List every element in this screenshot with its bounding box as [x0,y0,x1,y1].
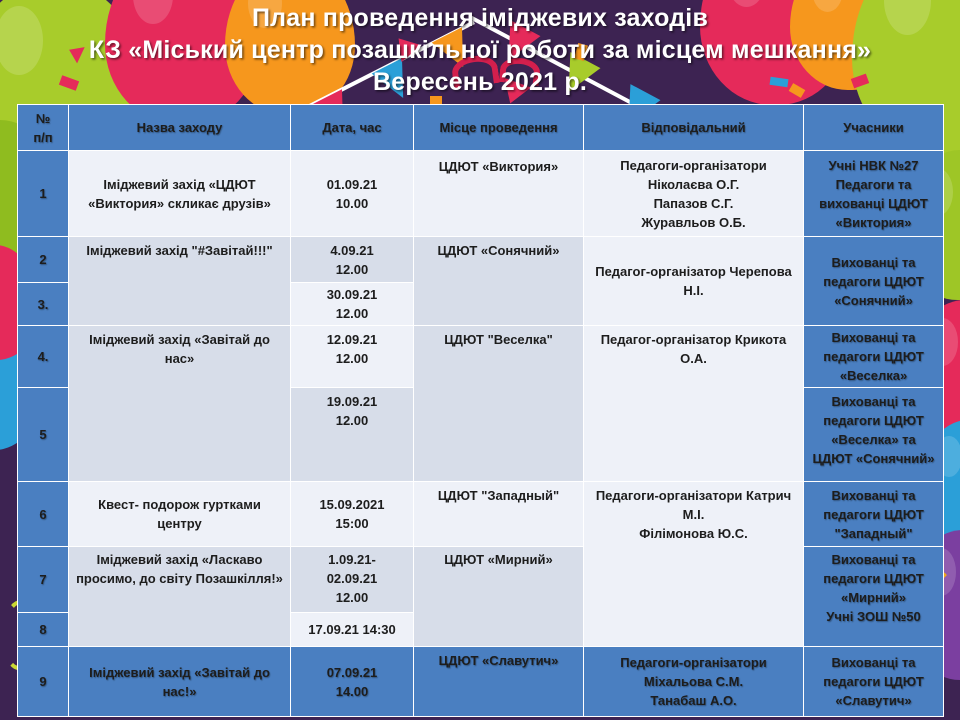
row-name: Іміджевий захід "#Завітай!!!" [69,237,291,326]
row-date-line1: 01.09.21 [295,175,409,194]
row-participants-line4: «Виктория» [808,213,939,232]
row-participants-line2: Педагоги та [808,175,939,194]
row-name-line1: Квест- подорож гуртками [73,495,286,514]
row-number: 6 [18,482,69,547]
row-date: 12.09.21 12.00 [291,326,414,388]
row-participants: Вихованці та педагоги ЦДЮТ "Западный" [804,482,944,547]
row-name-line1: Іміджевий захід «Ласкаво [73,550,286,569]
row-participants-line2: педагоги ЦДЮТ [808,347,939,366]
title-line-3: Вересень 2021 р. [0,66,960,98]
row-name-line2: «Виктория» скликає друзів» [73,194,286,213]
row-date: 4.09.21 12.00 [291,237,414,283]
row-place: ЦДЮТ «Мирний» [414,547,584,647]
row-participants: Вихованці та педагоги ЦДЮТ «Веселка» та … [804,388,944,482]
row-number: 2 [18,237,69,283]
row-responsible-line4: Журавльов О.Б. [588,213,799,232]
table-body: 1 Іміджевий захід «ЦДЮТ «Виктория» склик… [18,151,944,717]
row-date-line2: 12.00 [295,304,409,323]
row-responsible-line2: Ніколаєва О.Г. [588,175,799,194]
row-date-line2: 12.00 [295,260,409,279]
row-date: 1.09.21- 02.09.21 12.00 [291,547,414,613]
slide-title: План проведення іміджевих заходів КЗ «Мі… [0,2,960,98]
row-responsible-line1: Педагог-організатор Черепова [588,262,799,281]
row-participants-line2: педагоги ЦДЮТ [808,272,939,291]
title-line-1: План проведення іміджевих заходів [0,2,960,34]
col-header-name: Назва заходу [69,105,291,151]
row-participants: Вихованці та педагоги ЦДЮТ «Мирний» Учні… [804,547,944,647]
table-header-row: № п/п Назва заходу Дата, час Місце прове… [18,105,944,151]
row-name-line2: центру [73,514,286,533]
row-responsible-line2: Міхальова С.М. [588,672,799,691]
row-responsible-line2: Н.І. [588,281,799,300]
row-participants: Вихованці та педагоги ЦДЮТ «Сонячний» [804,237,944,326]
table-header: № п/п Назва заходу Дата, час Місце прове… [18,105,944,151]
row-date-line1: 4.09.21 [295,241,409,260]
row-participants: Вихованці та педагоги ЦДЮТ «Веселка» [804,326,944,388]
row-date-line1: 19.09.21 [295,392,409,411]
row-participants-line2: педагоги ЦДЮТ [808,569,939,588]
col-header-number: № п/п [18,105,69,151]
row-name: Іміджевий захід «ЦДЮТ «Виктория» скликає… [69,151,291,237]
row-place: ЦДЮТ «Сонячний» [414,237,584,326]
title-line-2: КЗ «Міський центр позашкільної роботи за… [0,34,960,66]
row-date-line2: 10.00 [295,194,409,213]
row-number: 7 [18,547,69,613]
row-name: Іміджевий захід «Завітай до нас!» [69,647,291,717]
row-participants: Вихованці та педагоги ЦДЮТ «Славутич» [804,647,944,717]
row-responsible-line1: Педагог-організатор Крикота [588,330,799,349]
row-number: 9 [18,647,69,717]
row-participants-line1: Вихованці та [808,486,939,505]
row-date: 15.09.2021 15:00 [291,482,414,547]
row-participants-line3: «Сонячний» [808,291,939,310]
table-row: 7 Іміджевий захід «Ласкаво просимо, до с… [18,547,944,613]
row-name-line2: просимо, до світу Позашкілля!» [73,569,286,588]
row-name: Квест- подорож гуртками центру [69,482,291,547]
row-date-line2: 12.00 [295,411,409,430]
row-participants-line2: педагоги ЦДЮТ [808,505,939,524]
row-responsible-line1: Педагоги-організатори [588,653,799,672]
row-number: 8 [18,613,69,647]
row-participants-line1: Вихованці та [808,253,939,272]
slide-root: План проведення іміджевих заходів КЗ «Мі… [0,0,960,720]
col-header-place: Місце проведення [414,105,584,151]
row-date-line2: 02.09.21 [295,569,409,588]
col-header-number-line1: № [22,109,64,128]
row-date-line2: 12.00 [295,349,409,368]
row-date: 19.09.21 12.00 [291,388,414,482]
row-participants-line3: «Славутич» [808,691,939,710]
row-participants-line3: "Западный" [808,524,939,543]
col-header-responsible: Відповідальний [584,105,804,151]
row-participants-line1: Вихованці та [808,328,939,347]
row-participants-line3: «Мирний» [808,588,939,607]
row-date-line2: 14.00 [295,682,409,701]
row-name: Іміджевий захід «Завітай до нас» [69,326,291,482]
row-name: Іміджевий захід «Ласкаво просимо, до сві… [69,547,291,647]
row-number: 5 [18,388,69,482]
table-row: 2 Іміджевий захід "#Завітай!!!" 4.09.21 … [18,237,944,283]
row-responsible: Педагоги-організатори Ніколаєва О.Г. Пап… [584,151,804,237]
row-participants-line3: «Веселка» та [808,430,939,449]
row-name-line2: нас» [73,349,286,368]
row-date: 07.09.21 14.00 [291,647,414,717]
row-participants-line1: Вихованці та [808,392,939,411]
row-place: ЦДЮТ "Веселка" [414,326,584,482]
row-responsible: Педагог-організатор Крикота О.А. [584,326,804,482]
row-date-line1: 07.09.21 [295,663,409,682]
row-responsible-line1: Педагоги-організатори Катрич [588,486,799,505]
row-date: 30.09.21 12.00 [291,283,414,326]
row-participants-line4: ЦДЮТ «Сонячний» [808,449,939,468]
row-place: ЦДЮТ «Виктория» [414,151,584,237]
row-number: 3. [18,283,69,326]
row-responsible-line2: М.І. [588,505,799,524]
row-responsible-line3: Танабаш А.О. [588,691,799,710]
row-date-line1: 15.09.2021 [295,495,409,514]
table-row: 4. Іміджевий захід «Завітай до нас» 12.0… [18,326,944,388]
row-participants-line4: Учні ЗОШ №50 [808,607,939,626]
row-date-line1: 30.09.21 [295,285,409,304]
row-date: 17.09.21 14:30 [291,613,414,647]
col-header-number-line2: п/п [22,128,64,147]
table-row: 1 Іміджевий захід «ЦДЮТ «Виктория» склик… [18,151,944,237]
row-name-line1: Іміджевий захід «Завітай до [73,330,286,349]
row-responsible-line3: Папазов С.Г. [588,194,799,213]
row-participants-line1: Вихованці та [808,550,939,569]
row-number: 4. [18,326,69,388]
row-place: ЦДЮТ "Западный" [414,482,584,547]
row-date-line1: 1.09.21- [295,550,409,569]
row-number: 1 [18,151,69,237]
row-participants: Учні НВК №27 Педагоги та вихованці ЦДЮТ … [804,151,944,237]
plan-table: № п/п Назва заходу Дата, час Місце прове… [17,104,944,717]
row-responsible: Педагоги-організатори Міхальова С.М. Тан… [584,647,804,717]
row-date-line2: 15:00 [295,514,409,533]
row-date-line3: 12.00 [295,588,409,607]
table-row: 9 Іміджевий захід «Завітай до нас!» 07.0… [18,647,944,717]
row-participants-line1: Вихованці та [808,653,939,672]
row-responsible-line2: О.А. [588,349,799,368]
row-name-line1: Іміджевий захід «ЦДЮТ [73,175,286,194]
row-participants-line3: «Веселка» [808,366,939,385]
row-responsible: Педагоги-організатори Катрич М.І. Філімо… [584,482,804,647]
row-name-line2: нас!» [73,682,286,701]
row-participants-line2: педагоги ЦДЮТ [808,672,939,691]
plan-table-container: № п/п Назва заходу Дата, час Місце прове… [17,104,943,708]
row-place: ЦДЮТ «Славутич» [414,647,584,717]
row-name-line1: Іміджевий захід «Завітай до [73,663,286,682]
row-date: 01.09.21 10.00 [291,151,414,237]
row-name-line1: Іміджевий захід "#Завітай!!!" [73,241,286,260]
table-row: 6 Квест- подорож гуртками центру 15.09.2… [18,482,944,547]
row-responsible: Педагог-організатор Черепова Н.І. [584,237,804,326]
col-header-date: Дата, час [291,105,414,151]
row-participants-line3: вихованці ЦДЮТ [808,194,939,213]
row-responsible-line3: Філімонова Ю.С. [588,524,799,543]
row-date-line1: 12.09.21 [295,330,409,349]
col-header-participants: Учасники [804,105,944,151]
row-responsible-line1: Педагоги-організатори [588,156,799,175]
row-participants-line2: педагоги ЦДЮТ [808,411,939,430]
row-participants-line1: Учні НВК №27 [808,156,939,175]
